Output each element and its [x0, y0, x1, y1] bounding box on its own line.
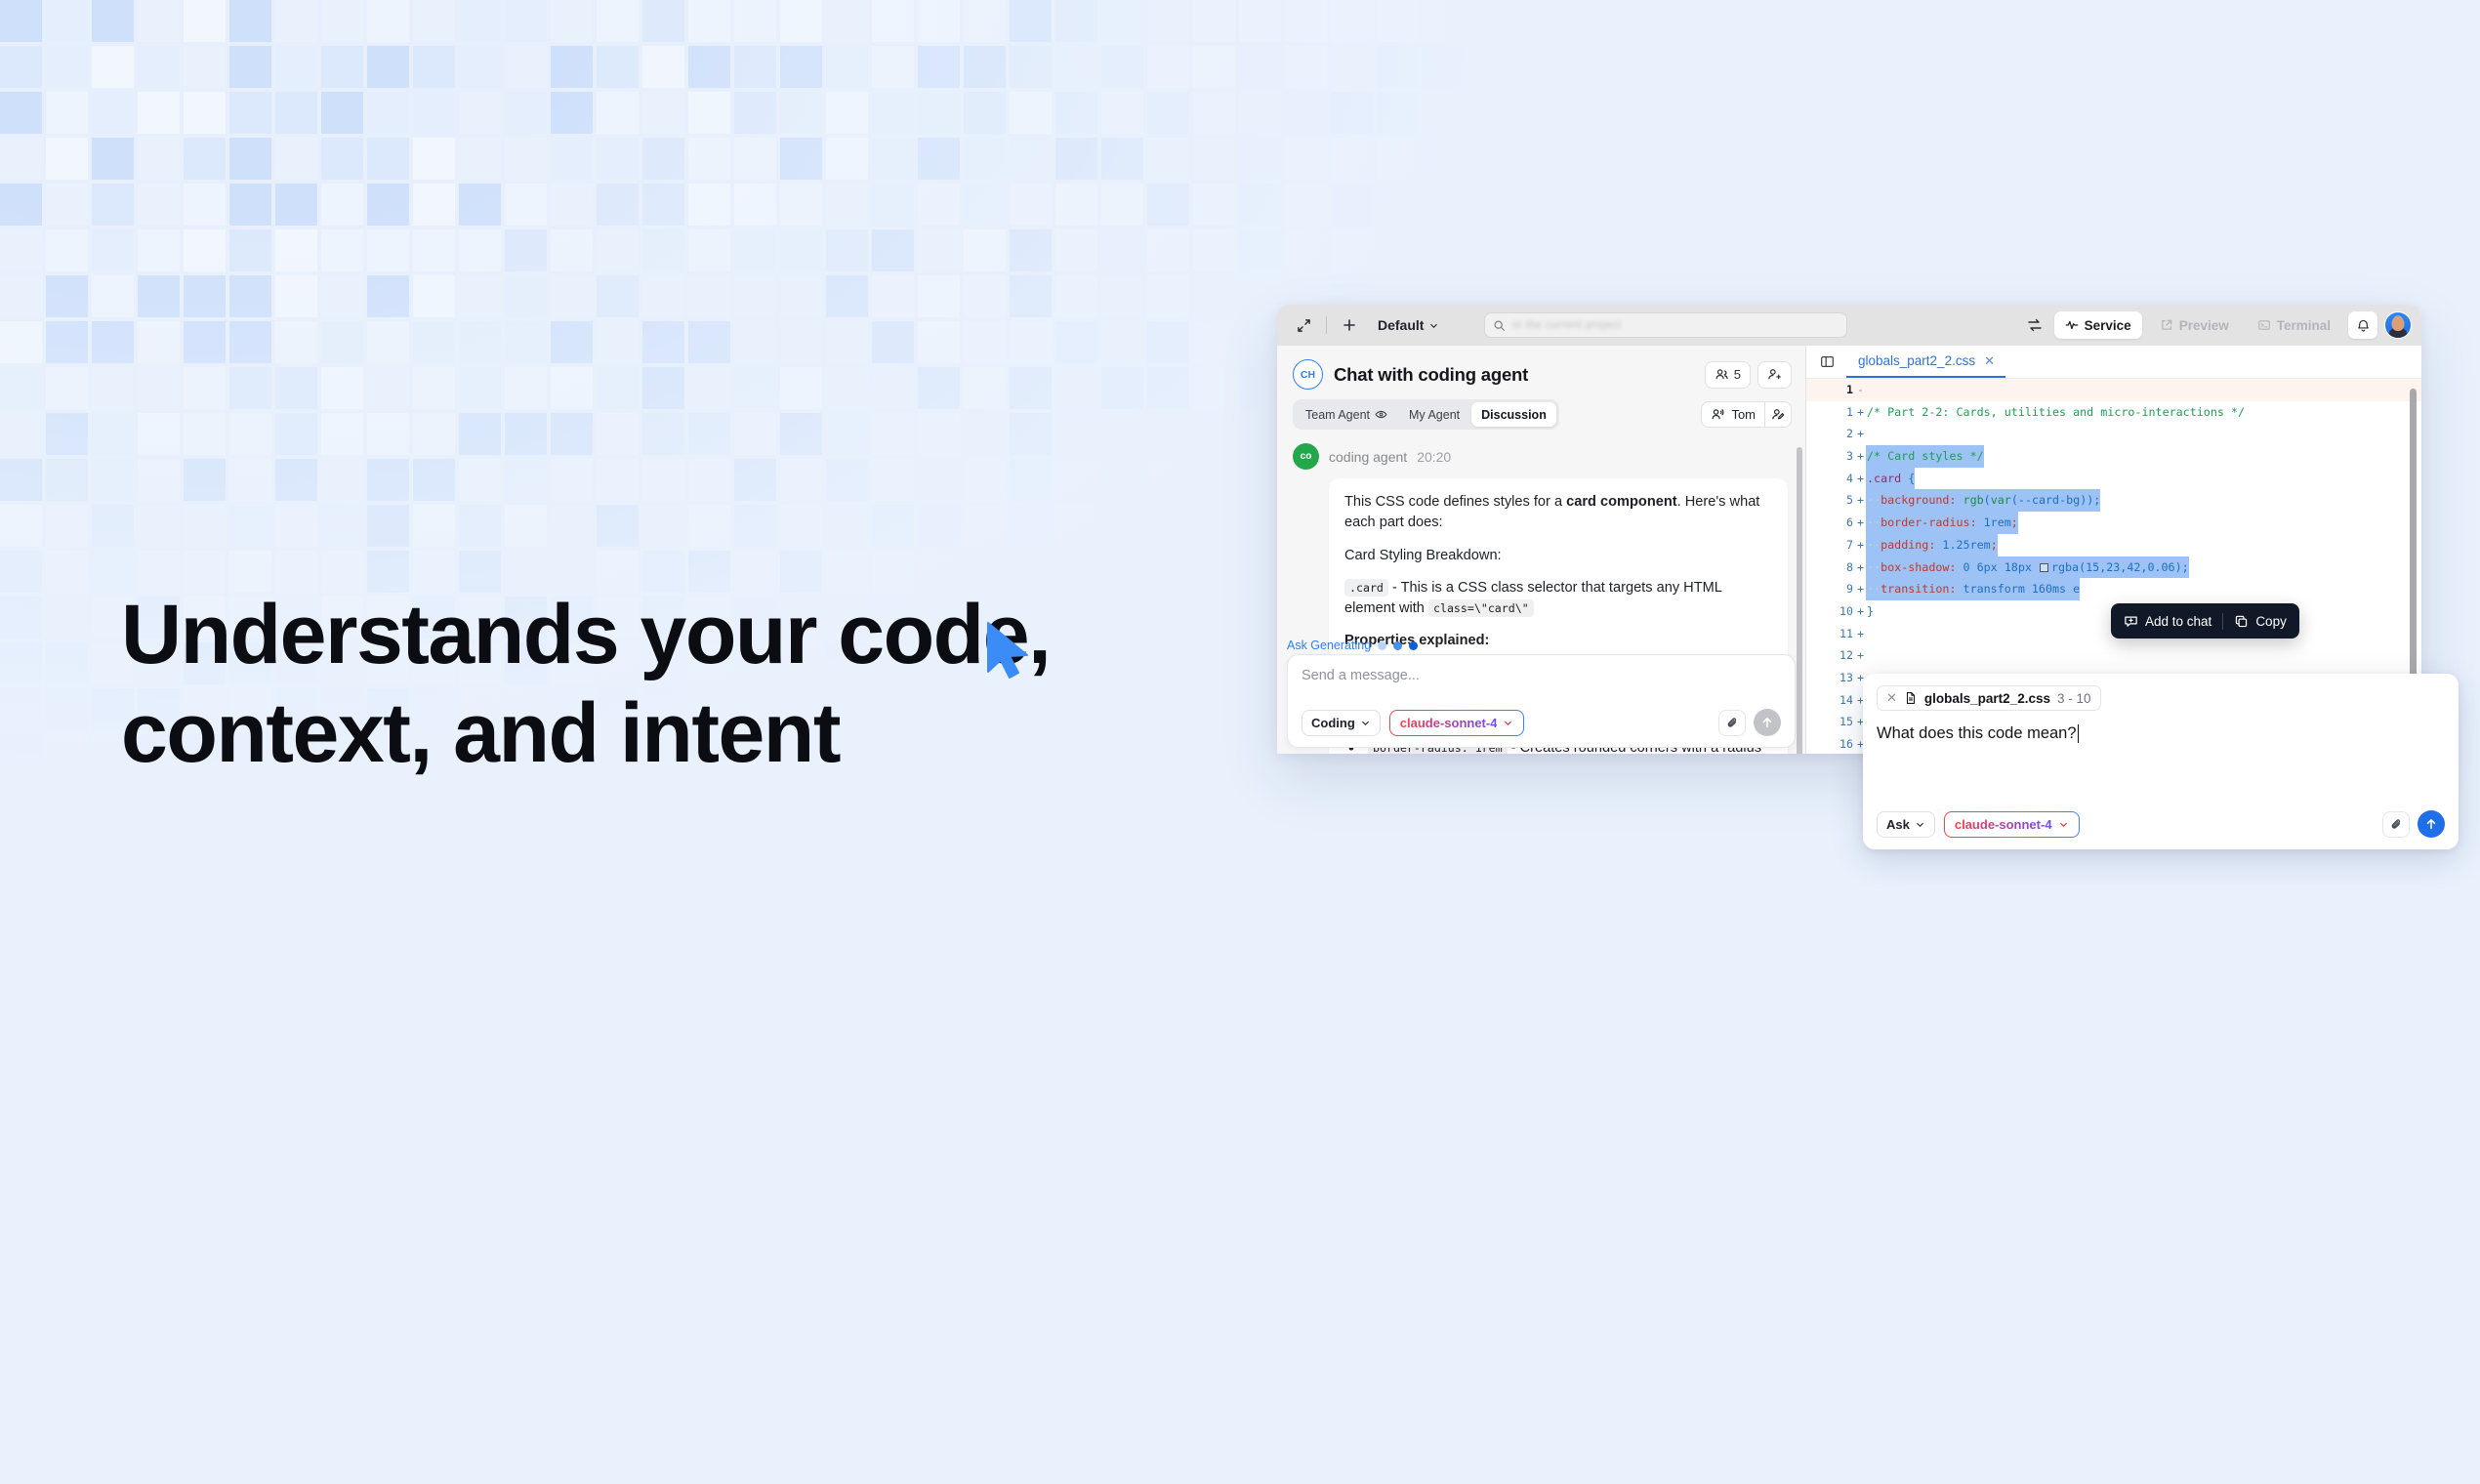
inline-ask-panel: ✕ globals_part2_2.css 3 - 10 What does t…	[1863, 674, 2459, 849]
user-plus-icon	[1767, 367, 1782, 382]
chevron-down-icon	[1360, 718, 1371, 728]
loading-dot-2	[1393, 641, 1402, 650]
line-number: 3	[1806, 445, 1855, 468]
page-title: Understands your code, context, and inte…	[121, 586, 1195, 782]
split-panel-icon[interactable]	[1812, 346, 1841, 378]
chat-tabs: Team Agent My Agent Discussion Tom	[1277, 399, 1805, 439]
members-count: 5	[1734, 367, 1741, 382]
tab-terminal-label: Terminal	[2277, 318, 2331, 333]
line-number: 1	[1806, 401, 1855, 424]
context-file-range: 3 - 10	[2057, 691, 2091, 706]
context-file-name: globals_part2_2.css	[1924, 691, 2050, 706]
profile-label: Default	[1378, 317, 1424, 333]
swap-icon[interactable]	[2022, 312, 2047, 338]
tab-service[interactable]: Service	[2054, 311, 2142, 339]
line-number: 1	[1806, 379, 1855, 401]
editor-tab-label: globals_part2_2.css	[1858, 353, 1975, 368]
add-to-chat-button[interactable]: Add to chat	[2124, 614, 2211, 629]
code-line[interactable]: 7+··padding: 1.25rem;	[1806, 534, 2421, 556]
code-line[interactable]: 1-	[1806, 379, 2421, 401]
arrow-up-icon	[1760, 716, 1774, 729]
tab-team-agent-label: Team Agent	[1305, 408, 1370, 422]
terminal-icon	[2257, 318, 2271, 332]
add-to-chat-label: Add to chat	[2145, 614, 2211, 629]
send-button[interactable]	[1754, 709, 1781, 736]
chat-title: Chat with coding agent	[1334, 364, 1528, 386]
add-to-chat-icon	[2124, 614, 2138, 629]
diff-marker: +	[1855, 445, 1866, 468]
status-badge: Ask Generating	[1287, 639, 1418, 652]
line-number: 10	[1806, 600, 1855, 623]
tab-my-agent[interactable]: My Agent	[1399, 402, 1469, 427]
copy-label: Copy	[2255, 614, 2287, 629]
code-line-text: ··padding: 1.25rem;	[1866, 534, 1998, 556]
attach-button[interactable]	[1718, 710, 1746, 736]
ask-model-selector[interactable]: claude-sonnet-4	[1944, 811, 2080, 838]
ask-mode-label: Ask	[1886, 817, 1910, 832]
code-line-text: ··box-shadow: 0 6px 18px rgba(15,23,42,0…	[1866, 556, 2189, 579]
mode-selector[interactable]: Coding	[1302, 710, 1381, 736]
code-line-text	[1866, 423, 1874, 445]
code-line[interactable]: 9+··transition: transform 160ms e	[1806, 578, 2421, 600]
diff-marker: +	[1855, 512, 1866, 534]
editor-tabbar: globals_part2_2.css ✕	[1806, 346, 2421, 379]
line-number: 14	[1806, 689, 1855, 712]
user-chip-edit-button[interactable]	[1764, 401, 1792, 428]
user-chip[interactable]: Tom	[1701, 401, 1764, 428]
ask-input-value: What does this code mean?	[1877, 724, 2077, 743]
diff-marker: +	[1855, 468, 1866, 490]
chevron-down-icon	[1428, 320, 1439, 331]
message-input[interactable]: Send a message...	[1302, 668, 1781, 683]
ask-model-label: claude-sonnet-4	[1955, 817, 2052, 832]
code-line[interactable]: 5+··background: rgb(var(--card-bg));	[1806, 489, 2421, 512]
ask-mode-selector[interactable]: Ask	[1877, 811, 1935, 838]
chat-header: CH Chat with coding agent 5	[1277, 346, 1805, 399]
chat-panel: CH Chat with coding agent 5 Team Agent	[1277, 346, 1806, 754]
avatar[interactable]	[2384, 311, 2412, 339]
code-line-text: ··transition: transform 160ms e	[1866, 578, 2080, 600]
line-number: 8	[1806, 556, 1855, 579]
file-icon	[1904, 691, 1918, 705]
line-number: 7	[1806, 534, 1855, 556]
code-line[interactable]: 1+/* Part 2-2: Cards, utilities and micr…	[1806, 401, 2421, 424]
tab-service-label: Service	[2085, 318, 2131, 333]
code-selection-tooltip: Add to chat Copy	[2111, 603, 2299, 639]
loading-dot-3	[1409, 641, 1418, 650]
tab-preview[interactable]: Preview	[2149, 311, 2240, 339]
chevron-down-icon	[1915, 819, 1925, 830]
mouse-cursor	[985, 621, 1036, 681]
line-number: 16	[1806, 733, 1855, 754]
line-number: 4	[1806, 468, 1855, 490]
mode-label: Coding	[1311, 716, 1355, 730]
message-intro: This CSS code defines styles for a card …	[1344, 492, 1772, 534]
code-line-text: /* Part 2-2: Cards, utilities and micro-…	[1866, 401, 2245, 424]
code-line[interactable]: 8+··box-shadow: 0 6px 18px rgba(15,23,42…	[1806, 556, 2421, 579]
paperclip-icon	[2389, 817, 2404, 832]
paperclip-icon	[1725, 716, 1740, 730]
close-icon[interactable]: ✕	[1984, 353, 1995, 369]
diff-marker: +	[1855, 401, 1866, 424]
ask-attach-button[interactable]	[2382, 811, 2410, 838]
message-time: 20:20	[1417, 449, 1451, 465]
message-meta: co coding agent 20:20	[1293, 443, 1788, 470]
loading-dot-1	[1378, 641, 1386, 650]
chat-scrollbar[interactable]	[1797, 447, 1802, 754]
diff-marker: +	[1855, 578, 1866, 600]
chevron-down-icon	[2058, 819, 2069, 830]
diff-marker: +	[1855, 423, 1866, 445]
add-member-button[interactable]	[1757, 361, 1792, 389]
line-number: 12	[1806, 644, 1855, 667]
bell-icon[interactable]	[2348, 311, 2377, 339]
people-icon	[1715, 367, 1729, 382]
code-line[interactable]: 2+	[1806, 423, 2421, 445]
code-line[interactable]: 4+.card {	[1806, 468, 2421, 490]
diff-marker: +	[1855, 623, 1866, 645]
diff-marker: +	[1855, 556, 1866, 579]
window-titlebar: Default in the current project Service P…	[1277, 305, 2421, 346]
external-link-icon	[2160, 318, 2173, 332]
intro-pre: This CSS code defines styles for a	[1344, 494, 1566, 510]
search-input[interactable]: in the current project	[1484, 312, 1847, 338]
inline-code-class-card: class=\"card\"	[1428, 599, 1534, 617]
code-line-text: }	[1866, 600, 1874, 623]
titlebar-divider	[1326, 316, 1327, 334]
diff-marker: +	[1855, 644, 1866, 667]
code-line-text: .card {	[1866, 468, 1915, 490]
color-swatch	[2040, 563, 2048, 572]
ask-send-button[interactable]	[2418, 810, 2445, 838]
code-line[interactable]: 3+/* Card styles */	[1806, 445, 2421, 468]
expand-icon[interactable]	[1291, 312, 1316, 338]
status-label: Ask Generating	[1287, 639, 1371, 652]
code-line-text	[1866, 644, 1874, 667]
diff-marker: +	[1855, 489, 1866, 512]
speaker-person-icon	[1711, 407, 1725, 422]
model-selector[interactable]: claude-sonnet-4	[1389, 710, 1525, 736]
editor-tab[interactable]: globals_part2_2.css ✕	[1846, 346, 2005, 378]
selector-explanation: .card - This is a CSS class selector tha…	[1344, 578, 1772, 620]
line-number: 15	[1806, 711, 1855, 733]
line-number: 5	[1806, 489, 1855, 512]
code-line[interactable]: 12+	[1806, 644, 2421, 667]
model-label: claude-sonnet-4	[1400, 716, 1498, 730]
diff-marker: +	[1855, 534, 1866, 556]
context-file-chip[interactable]: ✕ globals_part2_2.css 3 - 10	[1877, 685, 2101, 711]
pulse-icon	[2065, 318, 2079, 332]
copy-button[interactable]: Copy	[2234, 614, 2287, 629]
diff-marker: -	[1855, 379, 1866, 401]
tab-my-agent-label: My Agent	[1409, 408, 1460, 422]
code-line-text: ··background: rgb(var(--card-bg));	[1866, 489, 2100, 512]
code-line-text	[1866, 623, 1874, 645]
text-caret	[2078, 724, 2079, 743]
chat-composer: Send a message... Coding claude-sonnet-4	[1287, 654, 1796, 748]
line-number: 13	[1806, 667, 1855, 689]
plus-icon[interactable]	[1337, 312, 1362, 338]
tab-preview-label: Preview	[2179, 318, 2229, 333]
members-button[interactable]: 5	[1705, 361, 1751, 389]
tab-team-agent[interactable]: Team Agent	[1296, 402, 1397, 427]
line-number: 9	[1806, 578, 1855, 600]
arrow-up-icon	[2424, 817, 2438, 831]
diff-marker: +	[1855, 600, 1866, 623]
copy-icon	[2234, 614, 2249, 629]
tab-discussion-label: Discussion	[1481, 408, 1547, 422]
intro-bold: card component	[1566, 494, 1677, 510]
chat-avatar: CH	[1293, 359, 1323, 390]
tab-discussion[interactable]: Discussion	[1471, 402, 1556, 427]
search-placeholder-text: in the current project	[1512, 319, 1621, 331]
line-number: 2	[1806, 423, 1855, 445]
inline-code-card: .card	[1344, 579, 1388, 597]
close-icon[interactable]: ✕	[1886, 690, 1897, 706]
line-number: 11	[1806, 623, 1855, 645]
code-line-text: /* Card styles */	[1866, 445, 1984, 468]
eye-icon	[1375, 408, 1387, 421]
editor-scrollbar[interactable]	[2410, 389, 2417, 711]
ask-input[interactable]: What does this code mean?	[1877, 724, 2445, 743]
search-icon	[1493, 319, 1506, 332]
message-author: coding agent	[1329, 449, 1407, 465]
user-chip-label: Tom	[1731, 407, 1756, 422]
line-number: 6	[1806, 512, 1855, 534]
chat-tab-group: Team Agent My Agent Discussion	[1293, 399, 1559, 430]
tooltip-divider	[2222, 613, 2223, 630]
person-edit-icon	[1771, 407, 1786, 422]
tab-terminal[interactable]: Terminal	[2247, 311, 2341, 339]
section-heading-1: Card Styling Breakdown:	[1344, 546, 1772, 566]
message-avatar: co	[1293, 443, 1319, 470]
chevron-down-icon	[1503, 718, 1513, 728]
code-line-text	[1866, 379, 1874, 401]
profile-selector[interactable]: Default	[1372, 314, 1445, 336]
code-line[interactable]: 6+··border-radius: 1rem;	[1806, 512, 2421, 534]
code-line-text: ··border-radius: 1rem;	[1866, 512, 2018, 534]
